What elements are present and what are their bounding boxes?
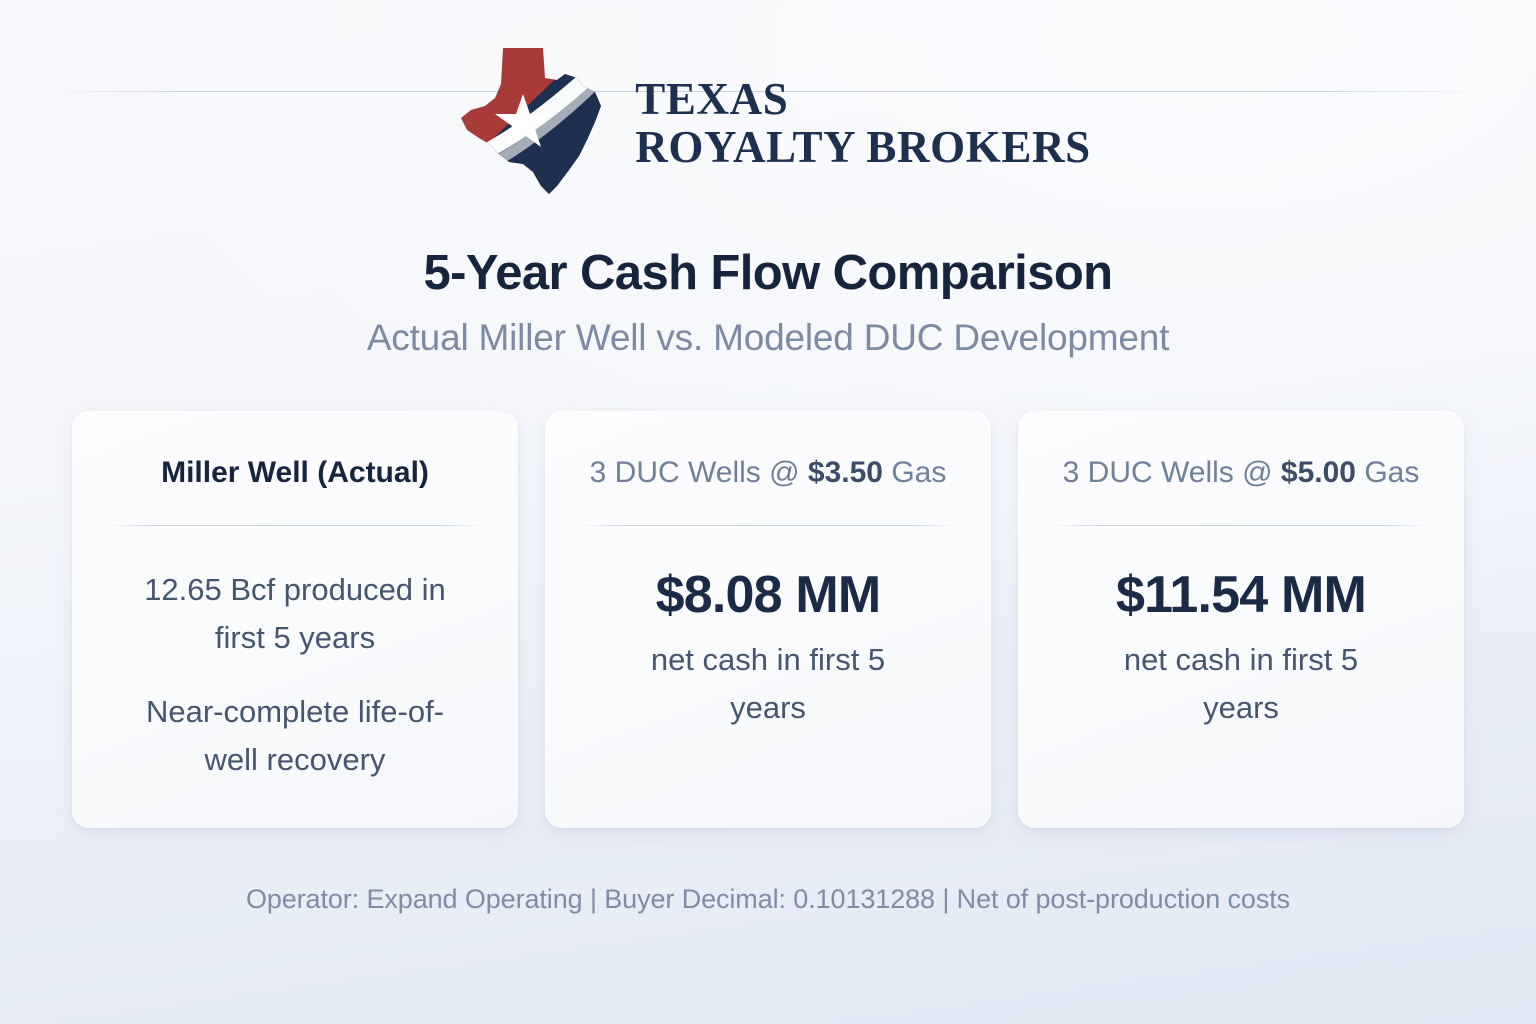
card-value: $8.08 MM — [656, 566, 881, 624]
card-body: $11.54 MM net cash in first 5 years — [1052, 566, 1430, 732]
card-heading-price: $5.00 — [1281, 456, 1356, 489]
card-body: 12.65 Bcf produced in first 5 years Near… — [106, 566, 484, 784]
card-body: $8.08 MM net cash in first 5 years — [579, 566, 957, 732]
card-paragraph: Near-complete life-of-well recovery — [135, 688, 455, 783]
brand-wordmark: TEXAS ROYALTY BROKERS — [635, 72, 1090, 171]
card-heading: 3 DUC Wells @ $5.00 Gas — [1063, 455, 1420, 491]
card-miller-well-actual: Miller Well (Actual) 12.65 Bcf produced … — [72, 411, 518, 828]
card-duc-wells-350-gas: 3 DUC Wells @ $3.50 Gas $8.08 MM net cas… — [545, 411, 991, 828]
card-heading-price: $3.50 — [808, 456, 883, 489]
page-title: 5-Year Cash Flow Comparison — [0, 245, 1536, 301]
page-subtitle: Actual Miller Well vs. Modeled DUC Devel… — [0, 317, 1536, 359]
card-heading-suffix: Gas — [1356, 456, 1419, 489]
card-heading-prefix: 3 DUC Wells @ — [590, 456, 808, 489]
brand-lockup: TEXAS ROYALTY BROKERS — [0, 44, 1536, 200]
comparison-card-row: Miller Well (Actual) 12.65 Bcf produced … — [72, 411, 1464, 828]
card-heading-suffix: Gas — [883, 456, 946, 489]
footer-note: Operator: Expand Operating | Buyer Decim… — [0, 884, 1536, 915]
card-divider — [1052, 525, 1430, 526]
brand-line-1: TEXAS — [635, 76, 1090, 124]
card-value-caption: net cash in first 5 years — [1091, 636, 1391, 731]
brand-line-2: ROYALTY BROKERS — [635, 124, 1090, 172]
infographic-page: TEXAS ROYALTY BROKERS 5-Year Cash Flow C… — [0, 0, 1536, 1024]
card-duc-wells-500-gas: 3 DUC Wells @ $5.00 Gas $11.54 MM net ca… — [1018, 411, 1464, 828]
card-paragraph: 12.65 Bcf produced in first 5 years — [135, 566, 455, 661]
card-divider — [106, 525, 484, 526]
card-divider — [579, 525, 957, 526]
card-value: $11.54 MM — [1116, 566, 1366, 624]
card-heading: 3 DUC Wells @ $3.50 Gas — [590, 455, 947, 491]
card-value-caption: net cash in first 5 years — [618, 636, 918, 731]
card-heading: Miller Well (Actual) — [161, 455, 429, 491]
card-heading-prefix: 3 DUC Wells @ — [1063, 456, 1281, 489]
texas-logo-icon — [445, 44, 613, 200]
